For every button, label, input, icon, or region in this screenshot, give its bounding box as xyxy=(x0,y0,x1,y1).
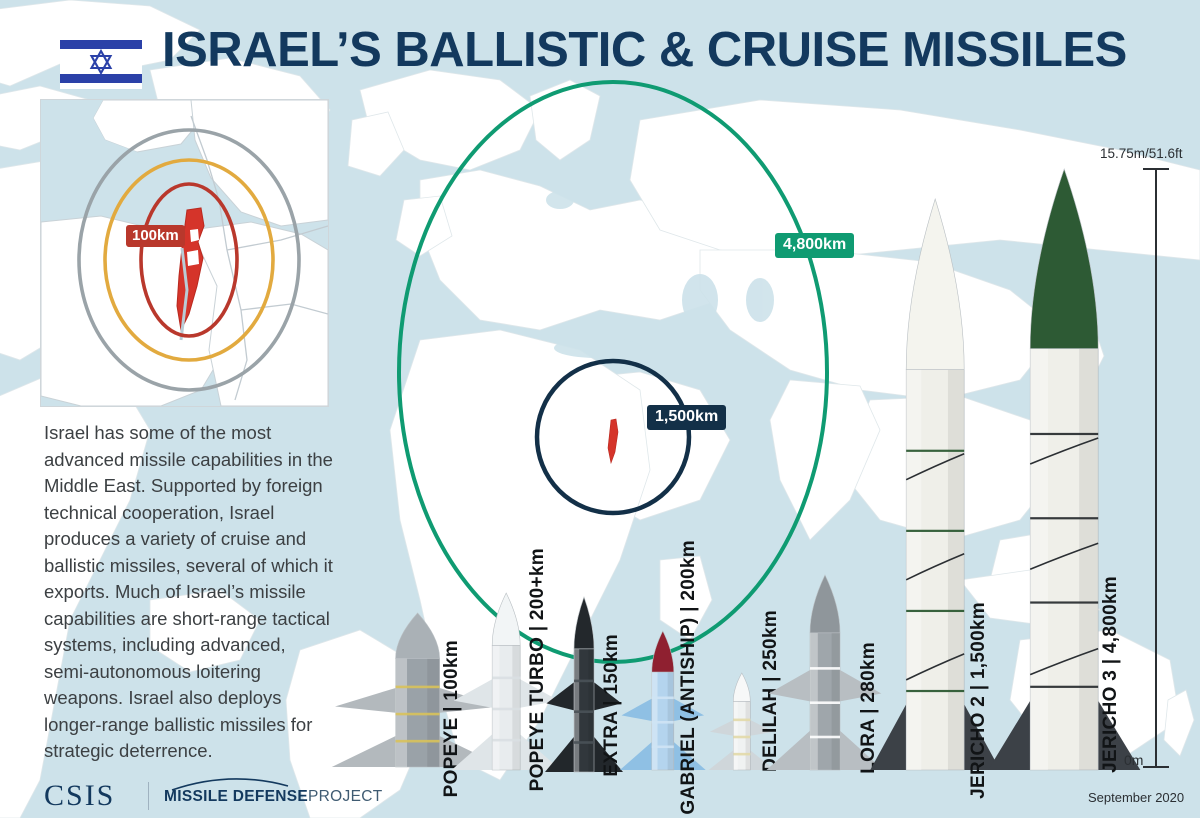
fin-left xyxy=(451,734,492,770)
stage-band xyxy=(1030,686,1098,688)
missile-silhouette-group: POPEYE | 100kmPOPEYE TURBO | 200+kmEXTRA… xyxy=(0,0,1200,818)
nose-cone xyxy=(396,613,440,658)
scale-tick-bottom xyxy=(1143,766,1169,768)
stage-band xyxy=(652,745,674,748)
stage-band xyxy=(652,697,674,700)
body-highlight xyxy=(1030,349,1048,770)
nose-cone xyxy=(574,597,594,649)
wing-left xyxy=(546,682,574,710)
stage-band xyxy=(492,708,520,711)
stage-band xyxy=(1030,517,1098,519)
fin-left xyxy=(620,742,652,770)
wing-left xyxy=(622,699,652,721)
stage-band xyxy=(733,753,750,756)
stage-band xyxy=(574,710,594,713)
wing-left xyxy=(335,688,396,713)
stage-band xyxy=(396,686,440,689)
stage-band xyxy=(492,677,520,680)
nose-cone xyxy=(733,673,750,701)
missile-label-gabriel-antiship: GABRIEL (ANTISHIP) | 200km xyxy=(678,540,700,815)
stage-band xyxy=(1030,601,1098,603)
fin-left xyxy=(988,701,1030,770)
nose-cone xyxy=(492,593,520,645)
stage-band xyxy=(574,680,594,683)
scale-label-top: 15.75m/51.6ft xyxy=(1100,146,1183,161)
stage-band xyxy=(574,741,594,744)
nose-cone xyxy=(652,631,674,672)
scale-label-bottom: 0m xyxy=(1124,752,1143,768)
body-shadow xyxy=(1079,349,1098,770)
stage-band xyxy=(733,719,750,722)
missile-label-jericho-3: JERICHO 3 | 4,800km xyxy=(1100,576,1122,773)
stage-band xyxy=(492,739,520,742)
stage-band xyxy=(396,713,440,716)
stage-band xyxy=(652,721,674,724)
nose-cone xyxy=(1030,169,1098,349)
stage-band xyxy=(733,736,750,739)
fin-left xyxy=(332,736,396,767)
fin-left xyxy=(545,737,574,772)
fin-left xyxy=(708,750,733,770)
infographic-canvas: 4,800km 1,500km ISRAEL’S BALLISTIC & CRU… xyxy=(0,0,1200,818)
wing-left xyxy=(710,720,733,736)
scale-bar-line xyxy=(1155,168,1157,768)
date-stamp: September 2020 xyxy=(1088,790,1184,805)
stage-band xyxy=(1030,433,1098,435)
wing-left xyxy=(453,679,492,707)
stage-band xyxy=(396,740,440,743)
